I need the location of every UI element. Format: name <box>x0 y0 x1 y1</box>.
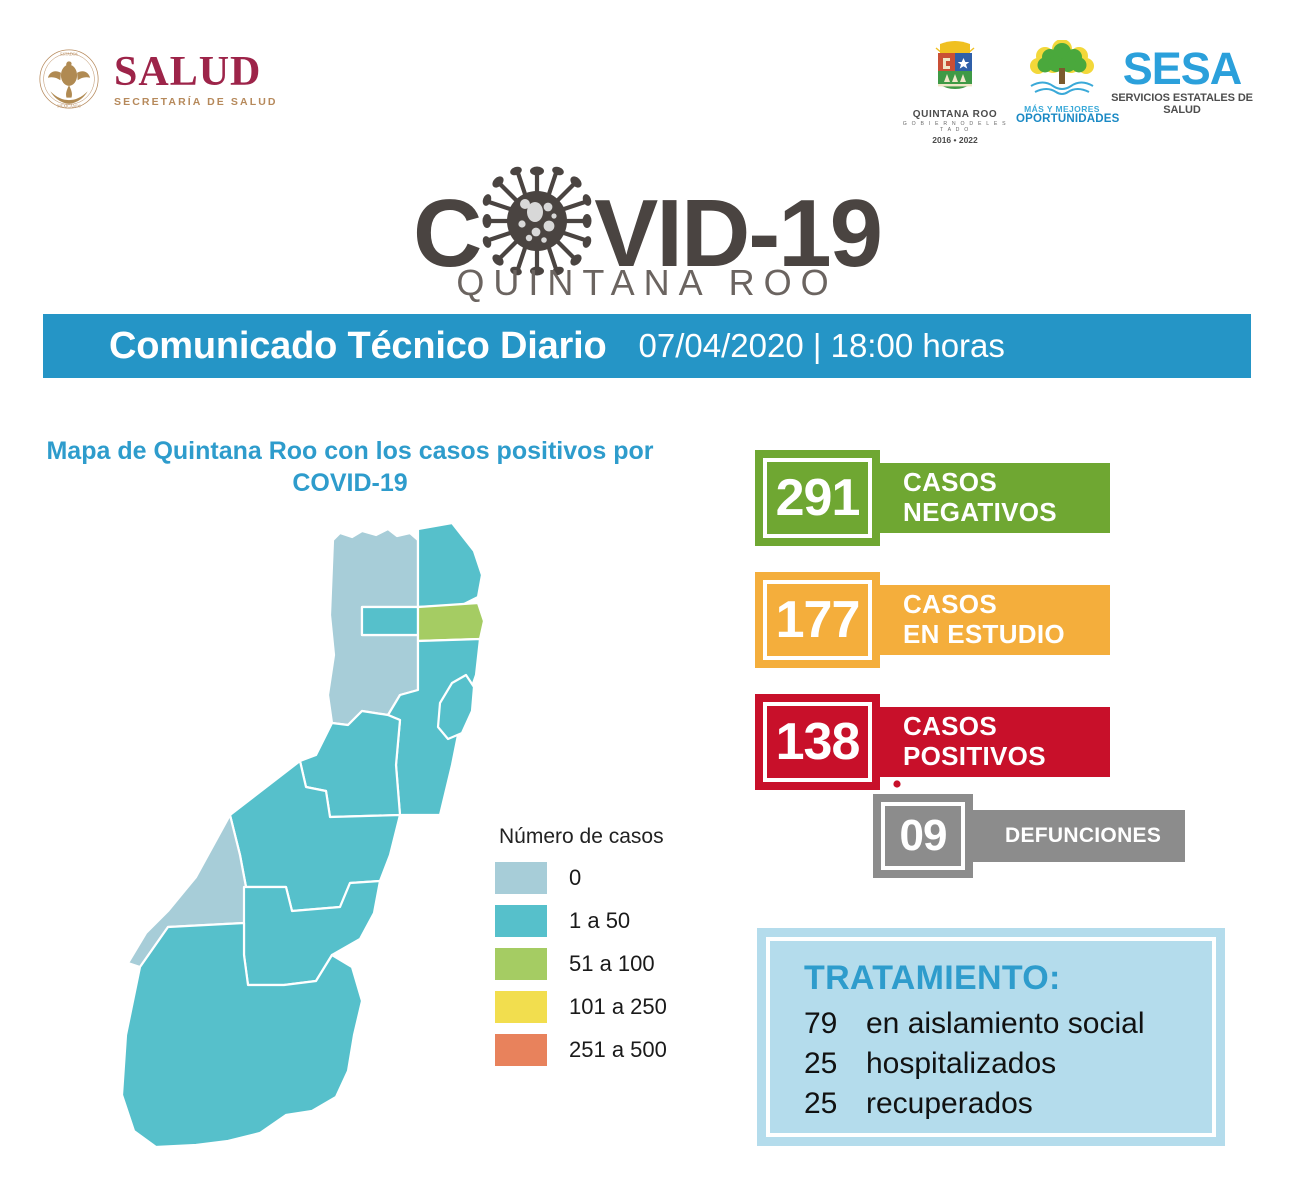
stat-number-box-negativos: 291 <box>755 450 880 546</box>
salud-title: SALUD <box>114 51 278 93</box>
stat-label-positivos-line1: CASOS <box>903 712 1110 742</box>
legend-swatch-1 <box>495 905 547 937</box>
legend-label-2: 51 a 100 <box>569 951 655 977</box>
legend-item-0[interactable]: 0 <box>495 861 667 895</box>
map-region-benito-juarez[interactable] <box>418 603 484 641</box>
treatment-text-recuperados: recuperados <box>866 1084 1033 1124</box>
stat-number-negativos: 291 <box>776 468 860 528</box>
banner: Comunicado Técnico Diario 07/04/2020 | 1… <box>43 314 1251 378</box>
legend-title: Número de casos <box>499 825 667 849</box>
svg-text:ESTADOS: ESTADOS <box>60 51 77 56</box>
banner-date: 07/04/2020 | 18:00 horas <box>639 327 1005 365</box>
stat-label-bar-positivos: CASOS POSITIVOS <box>865 707 1110 777</box>
stat-casos-negativos[interactable]: CASOS NEGATIVOS 291 <box>755 450 1255 550</box>
legend-swatch-0 <box>495 862 547 894</box>
sesa-title: SESA <box>1094 48 1270 91</box>
treatment-panel-inner: TRATAMIENTO: 79 en aislamiento social 25… <box>766 937 1216 1137</box>
infographic-page: ESTADOS MEXICANOS SALUD SECRETARÍA DE SA… <box>0 0 1294 1194</box>
treatment-row-recuperados: 25 recuperados <box>804 1084 1212 1124</box>
covid-subtitle: QUINTANA ROO <box>0 262 1294 304</box>
sesa-logo: SESA SERVICIOS ESTATALES DE SALUD <box>1094 48 1270 116</box>
stat-number-estudio: 177 <box>776 590 860 650</box>
svg-text:MEXICANOS: MEXICANOS <box>57 104 81 109</box>
legend-item-1[interactable]: 1 a 50 <box>495 904 667 938</box>
stat-label-defunciones: DEFUNCIONES <box>1005 824 1185 848</box>
quintana-roo-government: G O B I E R N O D E L E S T A D O <box>900 121 1010 133</box>
stat-label-estudio-line2: EN ESTUDIO <box>903 620 1110 650</box>
tree-waves-icon <box>1023 40 1101 98</box>
legend-label-4: 251 a 500 <box>569 1037 667 1063</box>
treatment-number-recuperados: 25 <box>804 1084 858 1124</box>
salud-wordmark: SALUD SECRETARÍA DE SALUD <box>114 51 278 108</box>
stat-label-bar-estudio: CASOS EN ESTUDIO <box>865 585 1110 655</box>
banner-title: Comunicado Técnico Diario <box>109 325 607 368</box>
sesa-subtitle: SERVICIOS ESTATALES DE SALUD <box>1094 92 1270 116</box>
treatment-row-aislamiento: 79 en aislamiento social <box>804 1004 1212 1044</box>
stat-number-box-defunciones: 09 <box>873 794 973 878</box>
salud-subtitle: SECRETARÍA DE SALUD <box>114 97 278 108</box>
legend-item-4[interactable]: 251 a 500 <box>495 1033 667 1067</box>
map-region-isla-mujeres[interactable] <box>418 523 482 607</box>
quintana-roo-years: 2016 • 2022 <box>900 135 1010 145</box>
treatment-panel: TRATAMIENTO: 79 en aislamiento social 25… <box>757 928 1225 1146</box>
legend-label-3: 101 a 250 <box>569 994 667 1020</box>
treatment-row-hospitalizados: 25 hospitalizados <box>804 1044 1212 1084</box>
quintana-roo-name: QUINTANA ROO <box>900 109 1010 120</box>
stat-defunciones[interactable]: DEFUNCIONES 09 <box>873 794 1255 894</box>
treatment-title: TRATAMIENTO: <box>804 959 1212 998</box>
map-legend: Número de casos 0 1 a 50 51 a 100 101 a … <box>495 825 667 1076</box>
map-section: Mapa de Quintana Roo con los casos posit… <box>40 420 720 1180</box>
stat-number-positivos: 138 <box>776 712 860 772</box>
mexican-eagle-seal-icon: ESTADOS MEXICANOS <box>38 48 100 110</box>
legend-item-2[interactable]: 51 a 100 <box>495 947 667 981</box>
stat-label-negativos-line2: NEGATIVOS <box>903 498 1110 528</box>
treatment-number-aislamiento: 79 <box>804 1004 858 1044</box>
stat-number-box-positivos: 138 <box>755 694 880 790</box>
stat-label-bar-negativos: CASOS NEGATIVOS <box>865 463 1110 533</box>
treatment-text-aislamiento: en aislamiento social <box>866 1004 1144 1044</box>
legend-label-1: 1 a 50 <box>569 908 630 934</box>
map-heading: Mapa de Quintana Roo con los casos posit… <box>40 435 660 499</box>
treatment-number-hospitalizados: 25 <box>804 1044 858 1084</box>
legend-swatch-3 <box>495 991 547 1023</box>
quintana-roo-shield-icon <box>918 40 992 102</box>
stat-label-estudio-line1: CASOS <box>903 590 1110 620</box>
legend-swatch-2 <box>495 948 547 980</box>
stat-number-box-estudio: 177 <box>755 572 880 668</box>
treatment-text-hospitalizados: hospitalizados <box>866 1044 1056 1084</box>
stat-label-positivos-line2: POSITIVOS <box>903 742 1110 772</box>
stat-casos-en-estudio[interactable]: CASOS EN ESTUDIO 177 <box>755 572 1255 672</box>
stats-column: CASOS NEGATIVOS 291 CASOS EN ESTUDIO 177… <box>755 450 1255 894</box>
map-region-puerto-morelos[interactable] <box>362 607 418 635</box>
stat-number-defunciones: 09 <box>900 811 947 861</box>
legend-item-3[interactable]: 101 a 250 <box>495 990 667 1024</box>
salud-logo: ESTADOS MEXICANOS SALUD SECRETARÍA DE SA… <box>38 48 278 110</box>
legend-label-0: 0 <box>569 865 581 891</box>
quintana-roo-map <box>100 515 520 1165</box>
quintana-roo-logo: QUINTANA ROO G O B I E R N O D E L E S T… <box>900 40 1010 145</box>
stat-label-negativos-line1: CASOS <box>903 468 1110 498</box>
legend-swatch-4 <box>495 1034 547 1066</box>
covid-title-block: C <box>0 150 1294 300</box>
header-logos: ESTADOS MEXICANOS SALUD SECRETARÍA DE SA… <box>0 0 1294 150</box>
